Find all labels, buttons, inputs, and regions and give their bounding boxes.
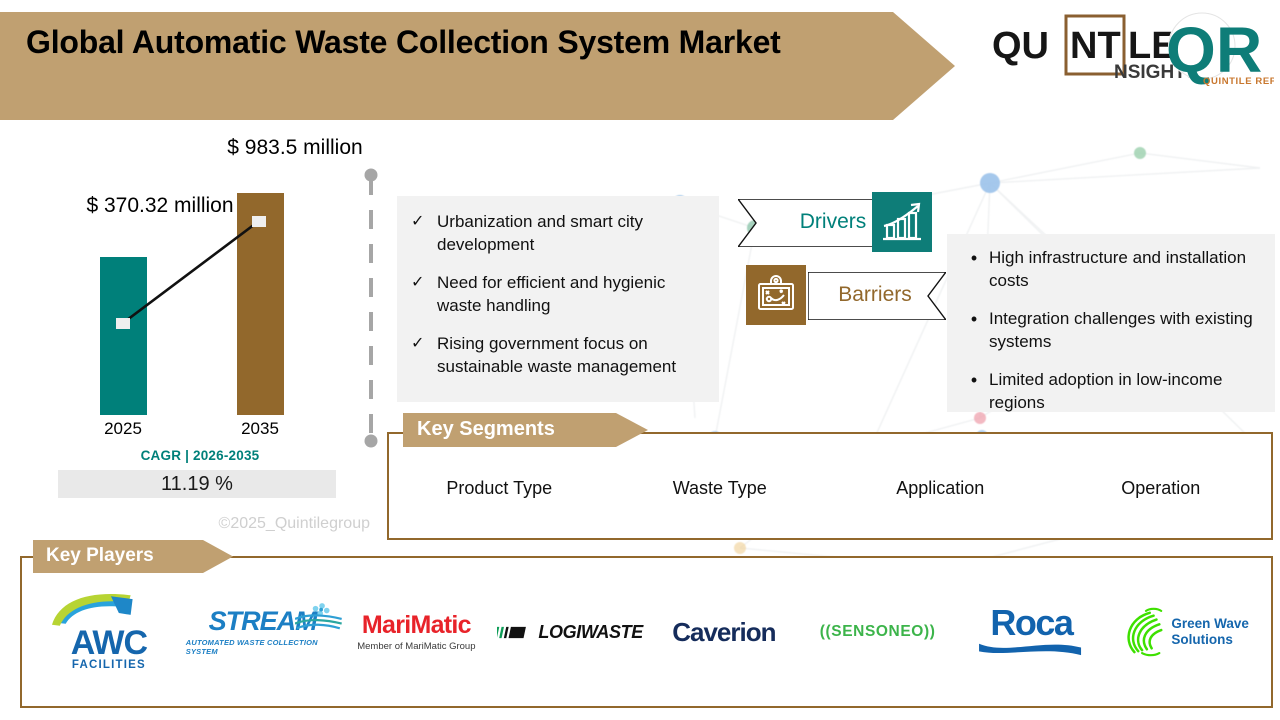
player-logo-sensoneo: ((SENSONEO)) [801,580,955,684]
logiwaste-bars-icon [497,625,535,640]
player-logo-name: Caverion [672,617,775,648]
segment-item-product-type[interactable]: Product Type [389,478,610,499]
player-logo-name: Green Wave [1171,616,1249,632]
player-logo-stream: STREAM AUTOMATED WASTE COLLECTION SYSTEM [186,580,340,684]
barrier-item: • Integration challenges with existing s… [959,307,1263,354]
stream-wave-icon [295,602,351,634]
barrier-item-label: High infrastructure and installation cos… [989,246,1263,293]
bullet-dot-icon: • [959,307,989,354]
page-title: Global Automatic Waste Collection System… [26,22,866,63]
barrier-item-label: Limited adoption in low-income regions [989,368,1263,415]
key-segments-box: Product Type Waste Type Application Oper… [387,432,1273,540]
key-players-box: AWC FACILITIES STREAM [20,556,1273,708]
barriers-panel: • High infrastructure and installation c… [947,234,1275,412]
driver-item: ✓ Urbanization and smart city developmen… [411,210,707,257]
drivers-panel: ✓ Urbanization and smart city developmen… [397,196,719,402]
key-players-row: AWC FACILITIES STREAM [32,580,1262,684]
green-wave-icon [1121,607,1167,657]
segment-item-waste-type[interactable]: Waste Type [610,478,831,499]
player-logo-name: ((SENSONEO)) [820,623,936,641]
segment-item-application[interactable]: Application [830,478,1051,499]
trend-marker-2025 [116,318,130,329]
player-logo-name: AWC [71,627,147,659]
key-players-tab-label: Key Players [46,545,154,567]
market-size-bar-chart: $ 370.32 million $ 983.5 million 2025 20… [40,130,360,540]
driver-item: ✓ Need for efficient and hygienic waste … [411,271,707,318]
bullet-dot-icon: • [959,246,989,293]
player-logo-marimatic: MariMatic Member of MariMatic Group [340,580,494,684]
player-logo-green-wave-solutions: Green Wave Solutions [1108,580,1262,684]
player-logo-caverion: Caverion [647,580,801,684]
player-logo-sub: FACILITIES [72,659,146,671]
awc-swoosh-icon [50,593,168,627]
svg-text:QU: QU [992,25,1049,67]
svg-text:NT: NT [1070,25,1121,67]
player-logo-awc: AWC FACILITIES [32,580,186,684]
barrier-item-label: Integration challenges with existing sys… [989,307,1263,354]
strategy-board-icon [746,265,806,325]
roca-wave-icon [977,640,1085,657]
brand-logo: QU NT LE NSIGHTS Q R QUINTILE REPORTS [988,6,1274,92]
player-logo-logiwaste: LOGIWASTE [493,580,647,684]
infographic-page: Global Automatic Waste Collection System… [0,0,1280,720]
player-logo-roca: Roca [955,580,1109,684]
barrier-item: • High infrastructure and installation c… [959,246,1263,293]
check-icon: ✓ [411,210,437,257]
segment-item-operation[interactable]: Operation [1051,478,1272,499]
player-logo-name: MariMatic [362,613,471,638]
player-logo-name: Roca [990,607,1072,639]
bullet-dot-icon: • [959,368,989,415]
svg-text:QUINTILE REPORTS: QUINTILE REPORTS [1203,76,1274,87]
player-logo-name: LOGIWASTE [538,622,642,643]
key-segments-tab-label: Key Segments [417,418,555,441]
driver-item: ✓ Rising government focus on sustainable… [411,332,707,379]
driver-item-label: Rising government focus on sustainable w… [437,332,707,379]
driver-item-label: Urbanization and smart city development [437,210,707,257]
player-logo-sub: Member of MariMatic Group [357,641,475,652]
vertical-dashed-divider [363,168,379,448]
growth-chart-icon [872,192,932,252]
barriers-label: Barriers [820,283,930,307]
player-logo-sub: Solutions [1171,632,1249,648]
trend-line [40,130,360,540]
check-icon: ✓ [411,271,437,318]
key-segments-row: Product Type Waste Type Application Oper… [389,478,1271,499]
driver-item-label: Need for efficient and hygienic waste ha… [437,271,707,318]
check-icon: ✓ [411,332,437,379]
trend-marker-2035 [252,216,266,227]
player-logo-sub: AUTOMATED WASTE COLLECTION SYSTEM [186,638,340,656]
barrier-item: • Limited adoption in low-income regions [959,368,1263,415]
